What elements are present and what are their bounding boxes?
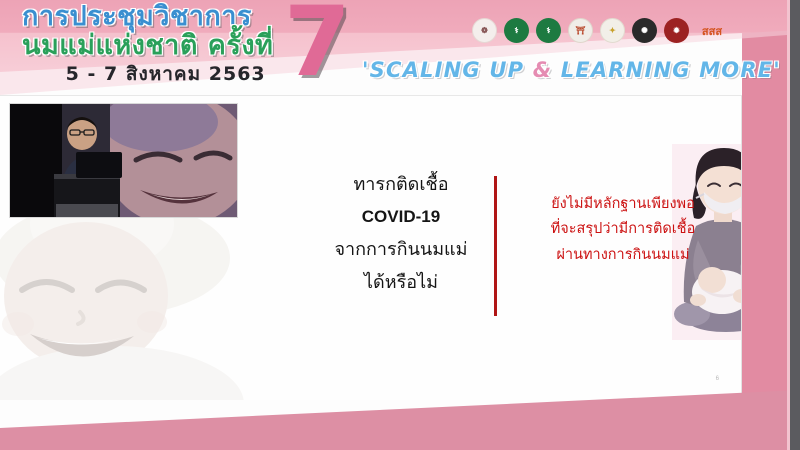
question-line-4: ได้หรือไม่ [322,266,480,299]
slide-content-card: ทารกติดเชื้อ COVID-19 จากการกินนมแม่ ได้… [0,95,742,400]
sponsor-logo-row: ❁มูลนิธิ ⚕กรมอนามัย ⚕สภาการพยาบาล ⛩ ✦ ✺ … [472,18,728,43]
logo-ministry-health-2-icon: ⚕สภาการพยาบาล [536,18,561,43]
logo-foundation-icon: ❁มูลนิธิ [472,18,497,43]
answer-text: ยังไม่มีหลักฐานเพียงพอ ที่จะสรุปว่ามีการ… [504,192,742,268]
slide-canvas: การประชุมวิชาการ นมแม่แห่งชาติ ครั้งที่ … [0,0,800,450]
answer-line-2: ที่จะสรุปว่ามีการติดเชื้อ [504,217,742,242]
conference-title-line2: นมแม่แห่งชาติ ครั้งที่ [22,32,273,59]
right-frame-border [790,0,800,450]
conference-edition-number: 7 [284,0,351,98]
logo-medical-council-icon: ✹ [664,18,689,43]
tagline-prefix: 'SCALING UP [362,58,533,82]
tagline-ampersand: & [533,58,553,82]
vertical-divider [494,176,497,316]
video-feed-speaker[interactable] [10,104,237,217]
answer-line-1: ยังไม่มีหลักฐานเพียงพอ [504,192,742,217]
logo-garuda-icon: ✦ [600,18,625,43]
conference-title: การประชุมวิชาการ นมแม่แห่งชาติ ครั้งที่ … [22,3,273,84]
answer-line-3: ผ่านทางการกินนมแม่ [504,243,742,268]
tagline-suffix: LEARNING MORE' [552,58,781,82]
conference-date: 5 - 7 สิงหาคม 2563 [22,65,273,84]
logo-thaihealth-icon: สสสThai Health [696,18,728,43]
question-line-3: จากการกินนมแม่ [322,233,480,266]
page-number: 6 [716,376,719,382]
logo-ministry-health-1-icon: ⚕กรมอนามัย [504,18,529,43]
question-text: ทารกติดเชื้อ COVID-19 จากการกินนมแม่ ได้… [322,168,480,299]
question-line-1: ทารกติดเชื้อ [322,168,480,201]
conference-tagline: 'SCALING UP & LEARNING MORE' [362,58,781,82]
logo-royal-emblem-icon: ⛩ [568,18,593,43]
question-line-2: COVID-19 [322,201,480,232]
conference-title-line1: การประชุมวิชาการ [22,3,273,30]
logo-university-icon: ✺ [632,18,657,43]
